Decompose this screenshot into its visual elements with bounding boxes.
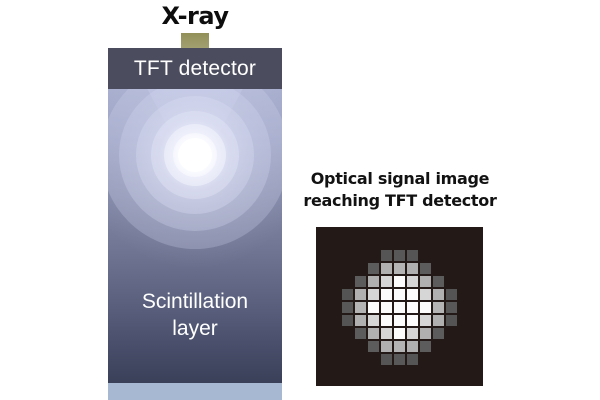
pixel-cell <box>355 354 366 365</box>
optical-caption-line2: reaching TFT detector <box>296 190 504 212</box>
pixel-cell <box>433 341 444 352</box>
pixel-cell <box>342 354 353 365</box>
substrate-strip <box>108 383 282 400</box>
pixel-cell <box>355 263 366 274</box>
pixel-cell <box>420 289 431 300</box>
pixel-cell <box>420 263 431 274</box>
pixel-cell <box>342 276 353 287</box>
pixel-cell <box>381 328 392 339</box>
pixel-cell <box>407 276 418 287</box>
pixel-cell <box>368 354 379 365</box>
pixel-cell <box>355 250 366 261</box>
pixel-cell <box>446 263 457 274</box>
pixel-cell <box>433 328 444 339</box>
optical-signal-panel <box>316 227 483 386</box>
scintillation-layer-label: Scintillation layer <box>108 288 282 342</box>
pixel-cell <box>342 328 353 339</box>
pixel-cell <box>381 250 392 261</box>
pixel-cell <box>394 341 405 352</box>
pixel-cell <box>342 250 353 261</box>
pixel-cell <box>420 341 431 352</box>
scintillation-label-line1: Scintillation <box>108 288 282 315</box>
scintillation-label-line2: layer <box>108 315 282 342</box>
pixel-cell <box>381 276 392 287</box>
pixel-cell <box>355 328 366 339</box>
pixel-cell <box>446 289 457 300</box>
pixel-cell <box>368 263 379 274</box>
pixel-cell <box>433 302 444 313</box>
pixel-cell <box>433 250 444 261</box>
pixel-cell <box>420 276 431 287</box>
pixel-cell <box>420 302 431 313</box>
pixel-cell <box>433 354 444 365</box>
interaction-point-core <box>178 138 212 172</box>
pixel-cell <box>394 328 405 339</box>
pixel-cell <box>420 354 431 365</box>
pixel-cell <box>355 315 366 326</box>
optical-caption-line1: Optical signal image <box>296 168 504 190</box>
pixel-cell <box>446 250 457 261</box>
pixel-cell <box>446 328 457 339</box>
pixel-cell <box>407 341 418 352</box>
pixel-cell <box>381 315 392 326</box>
pixel-cell <box>355 289 366 300</box>
pixel-cell <box>420 250 431 261</box>
pixel-cell <box>433 289 444 300</box>
pixel-cell <box>381 302 392 313</box>
pixel-cell <box>368 250 379 261</box>
pixel-cell <box>342 341 353 352</box>
pixel-cell <box>368 328 379 339</box>
pixel-cell <box>368 315 379 326</box>
pixel-cell <box>368 276 379 287</box>
tft-detector-bar: TFT detector <box>108 48 282 89</box>
pixel-cell <box>381 263 392 274</box>
pixel-cell <box>407 263 418 274</box>
pixel-cell <box>381 354 392 365</box>
pixel-cell <box>446 354 457 365</box>
pixel-cell <box>433 315 444 326</box>
pixel-cell <box>407 302 418 313</box>
pixel-cell <box>342 315 353 326</box>
diagram-canvas: X-ray TFT detector Scintillatio <box>0 0 600 400</box>
pixel-cell <box>394 263 405 274</box>
pixel-cell <box>355 276 366 287</box>
pixel-cell <box>407 354 418 365</box>
pixel-cell <box>407 328 418 339</box>
pixel-cell <box>381 341 392 352</box>
detector-stack-diagram: TFT detector Scintillation layer <box>108 48 282 400</box>
pixel-cell <box>368 341 379 352</box>
pixel-cell <box>394 315 405 326</box>
pixel-cell <box>433 263 444 274</box>
pixel-cell <box>342 263 353 274</box>
pixel-cell <box>394 289 405 300</box>
pixel-cell <box>446 302 457 313</box>
pixel-cell <box>433 276 444 287</box>
pixel-cell <box>368 289 379 300</box>
tft-detector-label: TFT detector <box>134 57 256 81</box>
pixel-cell <box>342 289 353 300</box>
pixel-cell <box>355 302 366 313</box>
optical-signal-caption: Optical signal image reaching TFT detect… <box>296 168 504 212</box>
pixel-cell <box>342 302 353 313</box>
pixel-cell <box>446 315 457 326</box>
pixel-cell <box>394 302 405 313</box>
pixel-cell <box>355 341 366 352</box>
pixel-cell <box>394 276 405 287</box>
pixel-cell <box>407 289 418 300</box>
pixel-cell <box>420 328 431 339</box>
pixel-cell <box>381 289 392 300</box>
pixel-cell <box>394 354 405 365</box>
pixel-cell <box>446 341 457 352</box>
pixel-cell <box>394 250 405 261</box>
pixel-cell <box>446 276 457 287</box>
pixel-cell <box>420 315 431 326</box>
pixel-cell <box>407 250 418 261</box>
xray-label: X-ray <box>108 2 282 30</box>
pixel-cell <box>407 315 418 326</box>
pixel-cell <box>368 302 379 313</box>
pixel-heatmap-grid <box>316 227 483 386</box>
